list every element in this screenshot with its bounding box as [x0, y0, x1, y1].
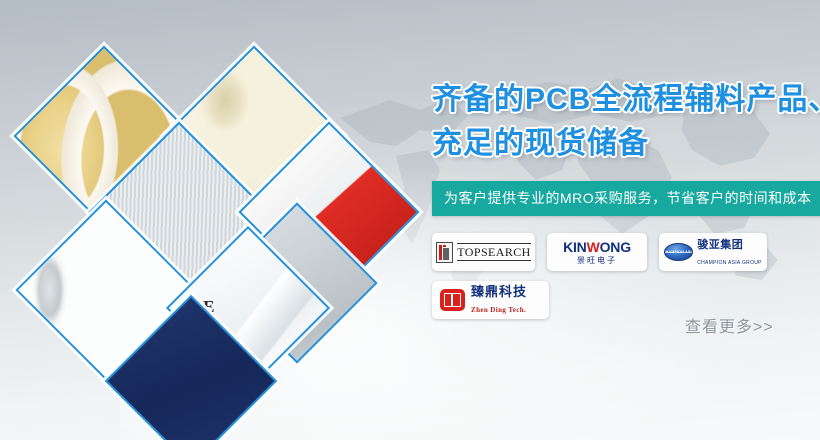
logo-badge-zhen-ding[interactable]: 臻鼎科技 Zhen Ding Tech.	[432, 281, 549, 319]
topsearch-mark-icon	[436, 242, 453, 263]
globe-icon-label: CHAMPION ASIA	[664, 250, 693, 254]
kinwong-chinese-name: 景旺电子	[563, 257, 631, 265]
zhen-ding-chinese-name: 臻鼎科技	[471, 284, 527, 299]
champion-asia-chinese-name: 骏亚集团	[697, 239, 743, 251]
headline-line-1: 齐备的PCB全流程辅料产品、	[432, 78, 820, 122]
partner-logos-row-1: TOPSEARCH KINWONG 景旺电子 CHAMPION ASIA	[432, 233, 782, 271]
logo-badge-topsearch[interactable]: TOPSEARCH	[432, 233, 535, 271]
headline-line-2: 充足的现货储备	[432, 122, 820, 166]
kinwong-wordmark-b: ONG	[600, 239, 631, 255]
view-more-link[interactable]: 查看更多>>	[685, 313, 774, 337]
logo-badge-kinwong[interactable]: KINWONG 景旺电子	[547, 233, 647, 271]
topsearch-wordmark: TOPSEARCH	[457, 243, 530, 261]
banner-copy: 齐备的PCB全流程辅料产品、 充足的现货储备 为客户提供专业的MRO采购服务，节…	[432, 78, 820, 319]
globe-icon: CHAMPION ASIA	[664, 243, 693, 261]
product-collage: JIE	[0, 0, 430, 440]
kinwong-wordmark-w: W	[587, 239, 600, 255]
champion-asia-english-name: CHAMPION ASIA GROUP	[697, 260, 762, 266]
subtitle-bar: 为客户提供专业的MRO采购服务，节省客户的时间和成本	[432, 181, 820, 216]
zhending-mark-icon	[440, 289, 465, 311]
hero-banner: JIE 齐备的PCB全流程辅料产品、 充足的现货储备 为客户提供专业的MRO采购…	[0, 0, 820, 440]
kinwong-wordmark: KINWONG	[563, 240, 631, 254]
zhen-ding-english-name: Zhen Ding Tech.	[471, 306, 526, 314]
kinwong-wordmark-a: KIN	[563, 239, 587, 255]
logo-badge-champion-asia[interactable]: CHAMPION ASIA 骏亚集团 CHAMPION ASIA GROUP	[659, 233, 767, 271]
partner-logos: TOPSEARCH KINWONG 景旺电子 CHAMPION ASIA	[432, 233, 782, 319]
